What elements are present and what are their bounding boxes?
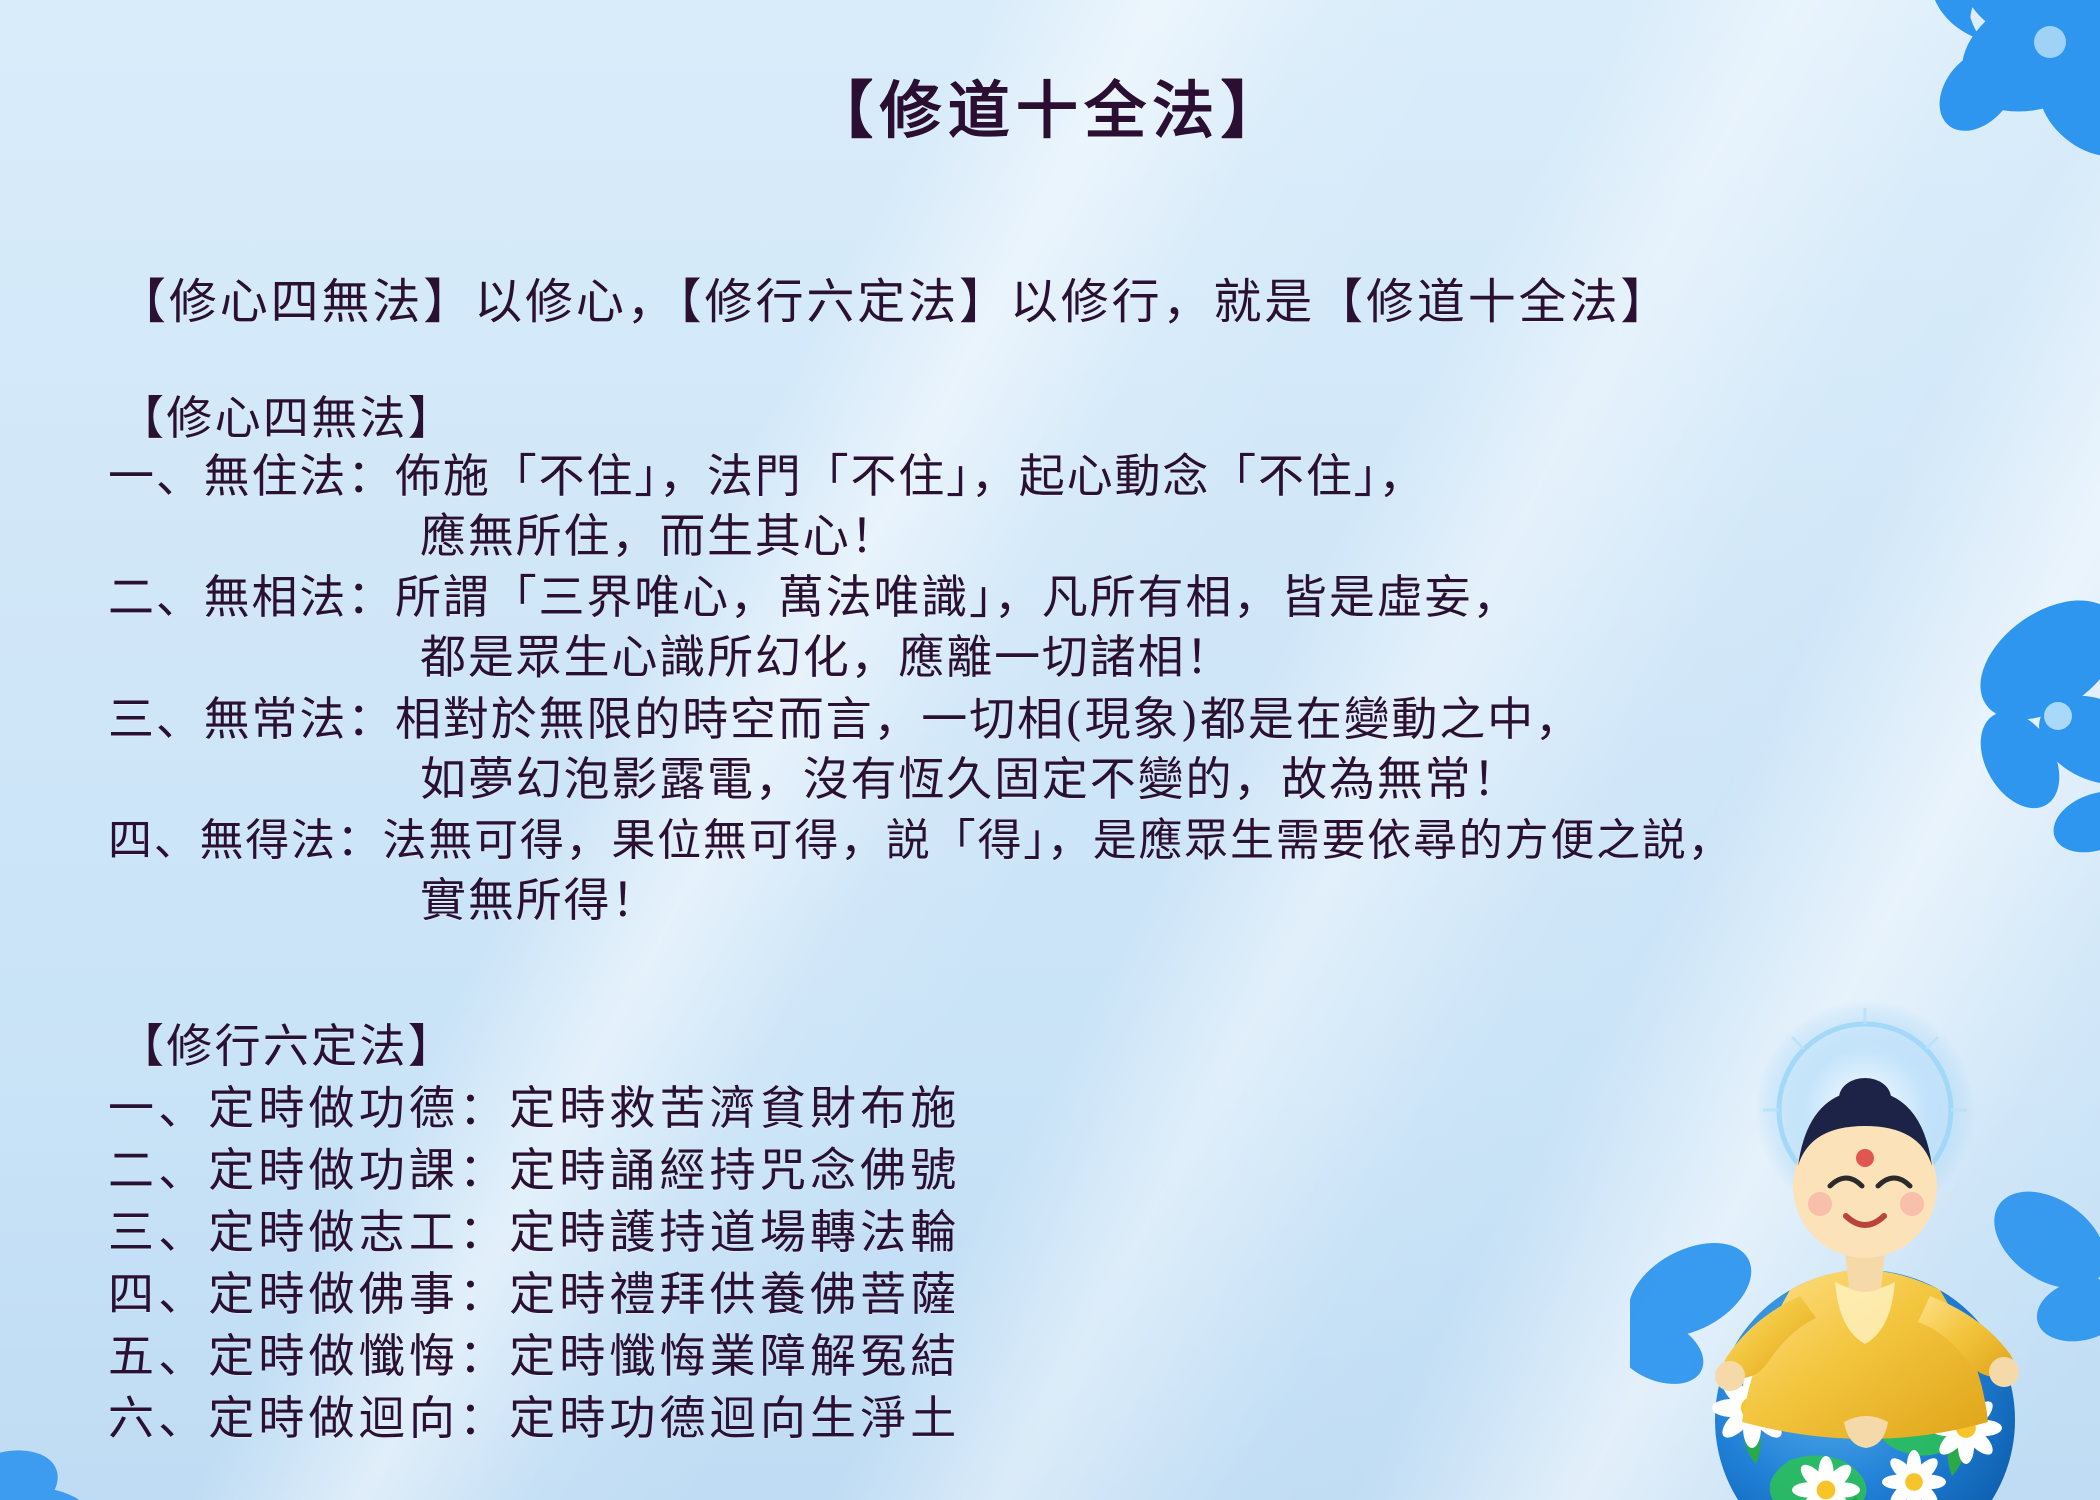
item-4-line-2: 實無所得！ <box>420 864 659 930</box>
item-1-line-2: 應無所住，而生其心！ <box>420 500 898 566</box>
blue-flower-right-edge-icon <box>1900 590 2100 880</box>
section-heading-1: 【修心四無法】 <box>118 382 456 448</box>
practice-line-1: 一、定時做功德：定時救苦濟貧財布施 <box>108 1072 960 1138</box>
practice-line-3: 三、定時做志工：定時護持道場轉法輪 <box>108 1196 960 1262</box>
item-1-line-1: 一、無住法：佈施「不住」，法門「不住」，起心動念「不住」， <box>108 440 1426 506</box>
item-4-line-1: 四、無得法：法無可得，果位無可得，説「得」，是應眾生需要依尋的方便之説， <box>108 804 1733 868</box>
lead-paragraph: 【修心四無法】以修心，【修行六定法】以修行，就是【修道十全法】 <box>118 262 1671 332</box>
practice-line-6: 六、定時做迴向：定時功德迴向生淨土 <box>108 1382 960 1448</box>
blue-flower-top-right-icon <box>1720 0 2100 330</box>
item-3-line-2: 如夢幻泡影露電，沒有恆久固定不變的，故為無常！ <box>420 743 1520 809</box>
item-2-line-1: 二、無相法：所謂「三界唯心，萬法唯識」，凡所有相，皆是虛妄， <box>108 561 1520 627</box>
practice-line-5: 五、定時做懺悔：定時懺悔業障解冤結 <box>108 1320 960 1386</box>
item-3-line-1: 三、無常法：相對於無限的時空而言，一切相(現象)都是在變動之中， <box>108 683 1583 749</box>
practice-line-2: 二、定時做功課：定時誦經持咒念佛號 <box>108 1134 960 1200</box>
buddha-child-on-globe-illustration <box>1630 990 2100 1500</box>
page-title: 【修道十全法】 <box>0 60 2100 150</box>
slide-canvas: 【修道十全法】 【修心四無法】以修心，【修行六定法】以修行，就是【修道十全法】 … <box>0 0 2100 1500</box>
practice-line-4: 四、定時做佛事：定時禮拜供養佛菩薩 <box>108 1258 960 1324</box>
item-2-line-2: 都是眾生心識所幻化，應離一切諸相！ <box>420 621 1233 687</box>
section-heading-2: 【修行六定法】 <box>118 1010 456 1076</box>
